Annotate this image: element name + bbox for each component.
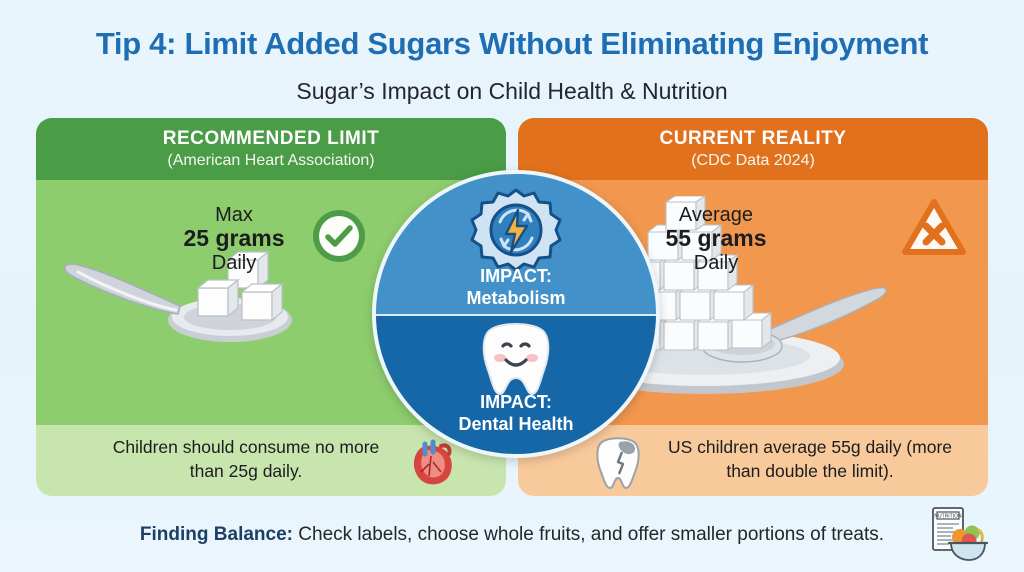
impact-metabolism-label: IMPACT: Metabolism xyxy=(376,266,656,309)
impact-dental-line2: Dental Health xyxy=(458,414,573,434)
page-title: Tip 4: Limit Added Sugars Without Elimin… xyxy=(0,26,1024,62)
panel-right-header: CURRENT REALITY (CDC Data 2024) xyxy=(518,118,988,180)
panel-left-header: RECOMMENDED LIMIT (American Heart Associ… xyxy=(36,118,506,180)
infographic-canvas: Tip 4: Limit Added Sugars Without Elimin… xyxy=(0,0,1024,572)
page-subtitle: Sugar’s Impact on Child Health & Nutriti… xyxy=(0,78,1024,105)
check-circle-icon xyxy=(311,208,367,264)
stat-recommended: Max 25 grams Daily xyxy=(154,204,314,275)
warning-triangle-x-icon xyxy=(901,198,967,258)
smiling-tooth-icon xyxy=(475,320,557,398)
nutrition-label-fruit-bowl-icon: NUTRITION xyxy=(925,503,989,563)
finding-balance-note: Finding Balance: Check labels, choose wh… xyxy=(0,524,1024,546)
panel-left-header-subtitle: (American Heart Association) xyxy=(36,152,506,170)
panel-right-header-title: CURRENT REALITY xyxy=(518,128,988,150)
panel-right-header-subtitle: (CDC Data 2024) xyxy=(518,152,988,170)
panel-right-footer-text: US children average 55g daily (more than… xyxy=(660,435,960,483)
nutrition-label-word: NUTRITION xyxy=(934,514,962,520)
stat-left-top-label: Max xyxy=(154,204,314,226)
panel-left-header-title: RECOMMENDED LIMIT xyxy=(36,128,506,150)
panel-left-footer-text: Children should consume no more than 25g… xyxy=(96,435,396,483)
finding-balance-text: Check labels, choose whole fruits, and o… xyxy=(293,524,884,545)
finding-balance-lead: Finding Balance: xyxy=(140,524,293,545)
impact-dental-label: IMPACT: Dental Health xyxy=(376,392,656,435)
impact-circle: IMPACT: Metabolism IMPACT: Dental Health xyxy=(372,170,660,458)
impact-metabolism-line1: IMPACT: xyxy=(480,266,552,286)
metabolism-gear-energy-icon xyxy=(468,186,564,274)
impact-dental-line1: IMPACT: xyxy=(480,392,552,412)
stat-left-value: 25 grams xyxy=(154,226,314,252)
impact-metabolism-line2: Metabolism xyxy=(466,288,565,308)
stat-left-bottom-label: Daily xyxy=(154,252,314,274)
